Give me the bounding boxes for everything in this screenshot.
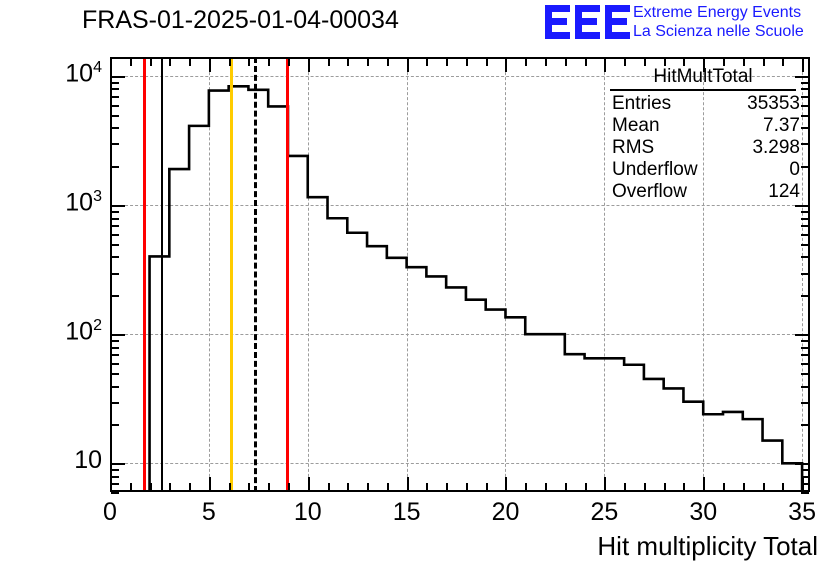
y-tick-900 [111, 211, 119, 213]
y-tick-6 [111, 492, 119, 494]
x-tick-top-18 [466, 58, 468, 66]
y-tick-right-8000 [801, 88, 809, 90]
x-tick-top-2 [150, 58, 152, 66]
x-tick-top-24 [585, 58, 587, 66]
stats-key: Entries [612, 93, 671, 115]
stats-row-underflow: Underflow0 [604, 159, 802, 181]
x-tick-top-9 [288, 58, 290, 66]
stats-row-rms: RMS3.298 [604, 137, 802, 159]
y-tick-right-3000 [801, 143, 809, 145]
y-tick-700 [111, 225, 119, 227]
x-tick-top-11 [328, 58, 330, 66]
eee-logo-mark [545, 5, 630, 39]
root-canvas: FRAS-01-2025-01-04-00034 Extreme Energy … [0, 0, 836, 572]
x-tick-14 [387, 483, 389, 491]
stats-value: 124 [768, 181, 800, 203]
y-tick-right-60 [801, 363, 809, 365]
x-tick-22 [545, 483, 547, 491]
x-tick-top-34 [782, 58, 784, 66]
stats-title: HitMultTotal [610, 66, 796, 91]
x-tick-label-30: 30 [689, 498, 717, 527]
y-tick-60 [111, 363, 119, 365]
logo-e-1-icon [545, 5, 570, 39]
x-tick-top-10 [308, 58, 310, 72]
y-tick-right-6 [801, 492, 809, 494]
x-tick-24 [585, 483, 587, 491]
y-tick-right-9000 [801, 82, 809, 84]
y-tick-300 [111, 273, 119, 275]
y-tick-right-900 [801, 211, 809, 213]
y-tick-100 [111, 334, 125, 336]
x-tick-7 [248, 483, 250, 491]
x-tick-21 [525, 483, 527, 491]
x-tick-label-5: 5 [202, 498, 216, 527]
y-tick-right-9 [801, 469, 809, 471]
y-tick-10000 [111, 76, 125, 78]
y-tick-right-10 [795, 463, 809, 465]
x-tick-29 [683, 483, 685, 491]
x-tick-top-17 [446, 58, 448, 66]
x-tick-top-27 [644, 58, 646, 66]
x-tick-12 [347, 483, 349, 491]
x-tick-top-13 [367, 58, 369, 66]
x-tick-label-15: 15 [393, 498, 421, 527]
y-tick-3000 [111, 143, 119, 145]
x-tick-20 [505, 477, 507, 491]
y-tick-500 [111, 244, 119, 246]
y-tick-right-4000 [801, 127, 809, 129]
y-tick-80 [111, 347, 119, 349]
stats-key: Overflow [612, 181, 687, 203]
x-tick-top-12 [347, 58, 349, 66]
x-tick-top-31 [723, 58, 725, 66]
x-tick-25 [604, 477, 606, 491]
y-tick-label-10000: 104 [20, 59, 102, 88]
x-tick-34 [782, 483, 784, 491]
x-tick-label-0: 0 [103, 498, 117, 527]
y-tick-right-6000 [801, 105, 809, 107]
x-tick-top-16 [426, 58, 428, 66]
y-tick-9 [111, 469, 119, 471]
x-tick-label-20: 20 [492, 498, 520, 527]
x-tick-top-4 [189, 58, 191, 66]
page-title: FRAS-01-2025-01-04-00034 [82, 6, 399, 35]
x-tick-26 [624, 483, 626, 491]
y-tick-right-100 [795, 334, 809, 336]
stats-value: 3.298 [752, 137, 800, 159]
x-tick-8 [268, 483, 270, 491]
x-tick-top-7 [248, 58, 250, 66]
stats-key: Mean [612, 115, 660, 137]
y-tick-right-600 [801, 234, 809, 236]
x-tick-top-19 [486, 58, 488, 66]
x-tick-9 [288, 483, 290, 491]
x-tick-3 [169, 483, 171, 491]
x-tick-1 [130, 483, 132, 491]
y-tick-right-7000 [801, 96, 809, 98]
x-tick-31 [723, 483, 725, 491]
x-tick-13 [367, 483, 369, 491]
x-tick-5 [209, 477, 211, 491]
x-tick-15 [407, 477, 409, 491]
eee-logo-text: Extreme Energy Events La Scienza nelle S… [633, 3, 804, 41]
x-tick-top-32 [743, 58, 745, 66]
x-tick-top-5 [209, 58, 211, 72]
stats-key: Underflow [612, 159, 698, 181]
x-tick-16 [426, 483, 428, 491]
stats-value: 7.37 [763, 115, 800, 137]
x-tick-top-0 [110, 58, 112, 72]
y-tick-right-500 [801, 244, 809, 246]
x-tick-label-25: 25 [590, 498, 618, 527]
y-tick-20 [111, 424, 119, 426]
eee-logo: Extreme Energy Events La Scienza nelle S… [545, 3, 835, 43]
y-tick-40 [111, 386, 119, 388]
y-tick-right-300 [801, 273, 809, 275]
x-tick-top-14 [387, 58, 389, 66]
x-tick-19 [486, 483, 488, 491]
x-tick-top-29 [683, 58, 685, 66]
x-tick-top-35 [802, 58, 804, 72]
x-tick-top-15 [407, 58, 409, 72]
x-tick-top-1 [130, 58, 132, 66]
x-tick-17 [446, 483, 448, 491]
stats-key: RMS [612, 137, 654, 159]
stats-value: 0 [789, 159, 800, 181]
y-tick-right-200 [801, 295, 809, 297]
y-tick-9000 [111, 82, 119, 84]
y-tick-7 [111, 483, 119, 485]
y-tick-right-2000 [801, 166, 809, 168]
y-tick-right-8 [801, 476, 809, 478]
y-tick-70 [111, 354, 119, 356]
x-tick-top-23 [565, 58, 567, 66]
y-tick-8000 [111, 88, 119, 90]
x-tick-top-33 [763, 58, 765, 66]
x-tick-label-35: 35 [788, 498, 816, 527]
y-tick-400 [111, 256, 119, 258]
y-tick-800 [111, 218, 119, 220]
eee-logo-line1: Extreme Energy Events [633, 3, 804, 22]
x-tick-18 [466, 483, 468, 491]
stats-row-entries: Entries35353 [604, 93, 802, 115]
x-tick-4 [189, 483, 191, 491]
y-tick-right-80 [801, 347, 809, 349]
y-tick-10 [111, 463, 125, 465]
y-tick-right-7 [801, 483, 809, 485]
y-tick-right-30 [801, 402, 809, 404]
y-tick-right-90 [801, 340, 809, 342]
y-tick-label-100: 102 [20, 317, 102, 346]
stats-box: HitMultTotal Entries35353Mean7.37RMS3.29… [604, 66, 802, 204]
y-tick-right-20 [801, 424, 809, 426]
y-tick-30 [111, 402, 119, 404]
x-tick-30 [703, 477, 705, 491]
y-tick-50 [111, 373, 119, 375]
y-tick-2000 [111, 166, 119, 168]
x-tick-label-10: 10 [294, 498, 322, 527]
y-tick-5000 [111, 115, 119, 117]
x-tick-10 [308, 477, 310, 491]
y-tick-right-40 [801, 386, 809, 388]
y-tick-8 [111, 476, 119, 478]
y-tick-right-400 [801, 256, 809, 258]
logo-e-2-icon [575, 5, 600, 39]
stats-row-overflow: Overflow124 [604, 181, 802, 203]
stats-rows: Entries35353Mean7.37RMS3.298Underflow0Ov… [604, 93, 802, 203]
x-tick-top-26 [624, 58, 626, 66]
y-tick-90 [111, 340, 119, 342]
eee-logo-line2: La Scienza nelle Scuole [633, 22, 804, 41]
x-tick-top-3 [169, 58, 171, 66]
y-tick-200 [111, 295, 119, 297]
y-tick-right-70 [801, 354, 809, 356]
y-tick-600 [111, 234, 119, 236]
x-tick-32 [743, 483, 745, 491]
y-tick-label-1000: 103 [20, 188, 102, 217]
x-tick-27 [644, 483, 646, 491]
y-tick-right-50 [801, 373, 809, 375]
logo-e-3-icon [605, 5, 630, 39]
x-tick-6 [229, 483, 231, 491]
y-tick-right-800 [801, 218, 809, 220]
x-tick-2 [150, 483, 152, 491]
y-tick-1000 [111, 205, 125, 207]
x-tick-top-21 [525, 58, 527, 66]
x-tick-33 [763, 483, 765, 491]
y-tick-7000 [111, 96, 119, 98]
x-axis-title: Hit multiplicity Total [597, 531, 818, 562]
y-tick-4000 [111, 127, 119, 129]
y-tick-right-5000 [801, 115, 809, 117]
x-tick-top-28 [664, 58, 666, 66]
x-tick-11 [328, 483, 330, 491]
y-tick-right-1000 [795, 205, 809, 207]
y-tick-right-700 [801, 225, 809, 227]
y-tick-6000 [111, 105, 119, 107]
x-tick-top-6 [229, 58, 231, 66]
x-tick-23 [565, 483, 567, 491]
x-tick-top-8 [268, 58, 270, 66]
stats-row-mean: Mean7.37 [604, 115, 802, 137]
x-tick-top-20 [505, 58, 507, 72]
y-tick-label-10: 10 [20, 446, 102, 475]
x-tick-top-22 [545, 58, 547, 66]
x-tick-28 [664, 483, 666, 491]
stats-value: 35353 [747, 93, 800, 115]
